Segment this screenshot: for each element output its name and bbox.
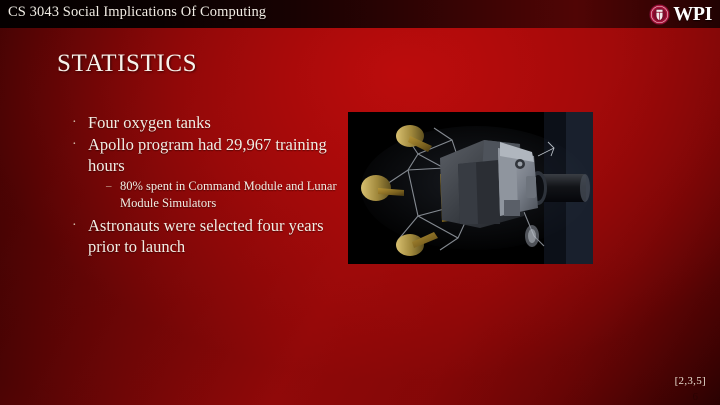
bullet-text: Apollo program had 29,967 training hours [88,134,340,176]
slide-number: 6 [693,391,699,403]
bullet-text: Astronauts were selected four years prio… [88,215,340,257]
bullet-item: · Four oxygen tanks [72,112,340,133]
citation-reference: [2,3,5] [675,375,706,387]
wpi-logo: WPI [649,2,712,26]
dash-marker-icon: – [106,178,120,195]
bullet-item: · Astronauts were selected four years pr… [72,215,340,257]
bullet-item: · Apollo program had 29,967 training hou… [72,134,340,176]
bullet-marker-icon: · [72,112,88,133]
bullet-marker-icon: · [72,134,88,155]
presentation-slide: CS 3043 Social Implications Of Computing… [0,0,720,405]
wpi-seal-icon [649,4,670,25]
bullet-list: · Four oxygen tanks · Apollo program had… [72,112,340,258]
bullet-marker-icon: · [72,215,88,236]
sub-bullet-item: – 80% spent in Command Module and Lunar … [106,178,340,212]
wpi-wordmark: WPI [673,4,712,24]
sub-bullet-text: 80% spent in Command Module and Lunar Mo… [120,178,340,212]
course-title: CS 3043 Social Implications Of Computing [8,4,266,21]
bullet-text: Four oxygen tanks [88,112,340,133]
apollo-lunar-module-photo [348,112,593,264]
slide-title: STATISTICS [57,50,197,78]
slide-header-band: CS 3043 Social Implications Of Computing… [0,0,720,28]
